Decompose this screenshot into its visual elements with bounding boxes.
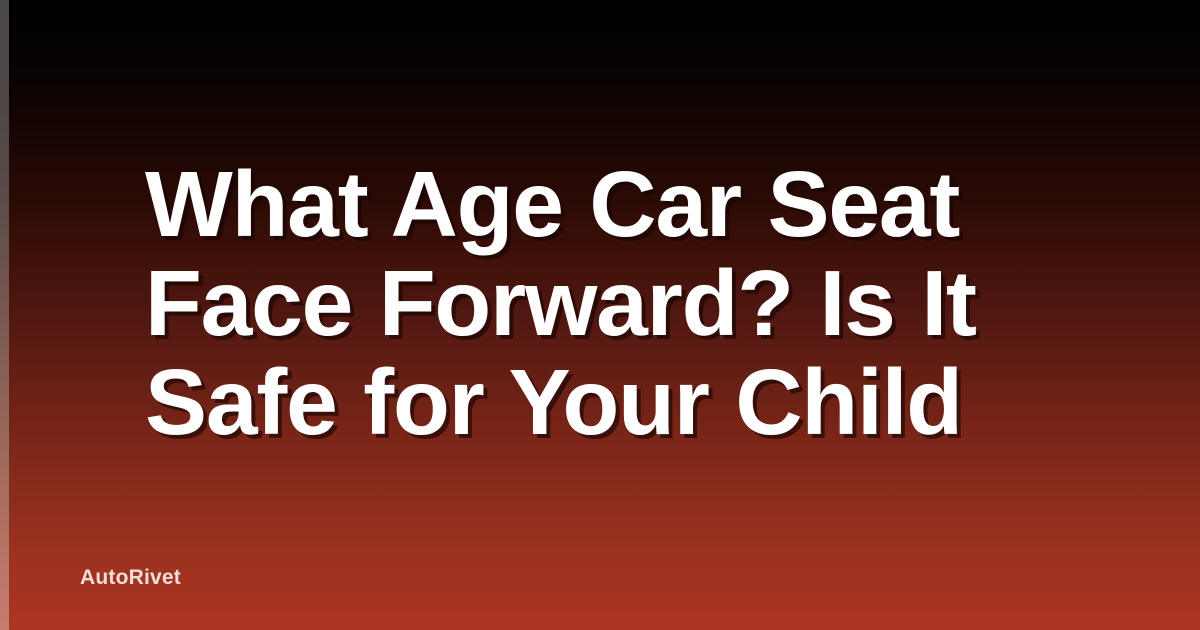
brand-wordmark: AutoRivet (80, 566, 181, 590)
social-share-card: What Age Car Seat Face Forward? Is It Sa… (0, 0, 1200, 630)
page-title: What Age Car Seat Face Forward? Is It Sa… (145, 155, 1075, 452)
left-edge-accent-strip (0, 0, 9, 630)
headline-block: What Age Car Seat Face Forward? Is It Sa… (145, 155, 1075, 452)
